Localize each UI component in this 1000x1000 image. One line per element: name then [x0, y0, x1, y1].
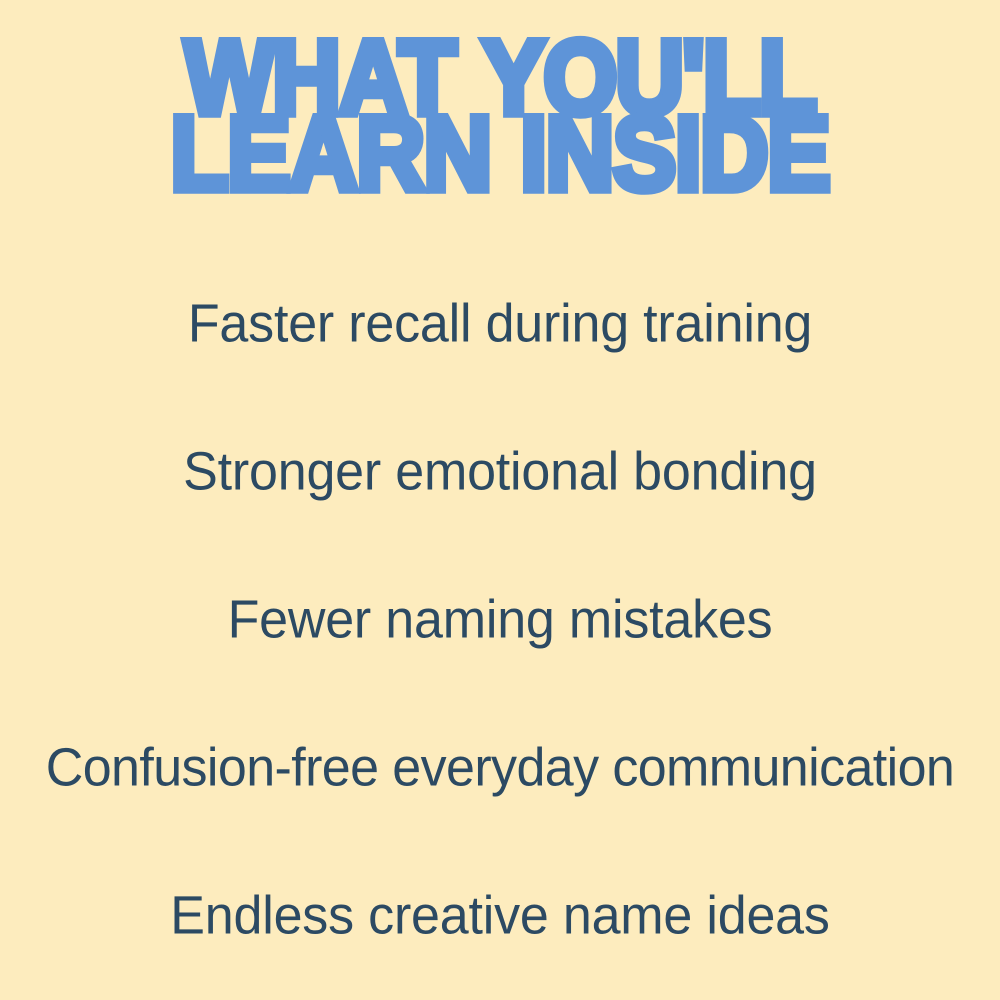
poster-canvas: WHAT YOU'LL LEARN INSIDE Faster recall d… — [0, 0, 1000, 1000]
list-item: Fewer naming mistakes — [0, 543, 1000, 697]
page-title: WHAT YOU'LL LEARN INSIDE — [0, 34, 1000, 182]
list-item: Stronger emotional bonding — [0, 395, 1000, 549]
list-item: Faster recall during training — [0, 247, 1000, 401]
list-item: Endless creative name ideas — [0, 839, 1000, 993]
page-title-line-2: LEARN INSIDE — [0, 110, 1000, 198]
list-item: Confusion-free everyday communication — [0, 691, 1000, 845]
benefits-list: Faster recall during training Stronger e… — [0, 250, 1000, 990]
